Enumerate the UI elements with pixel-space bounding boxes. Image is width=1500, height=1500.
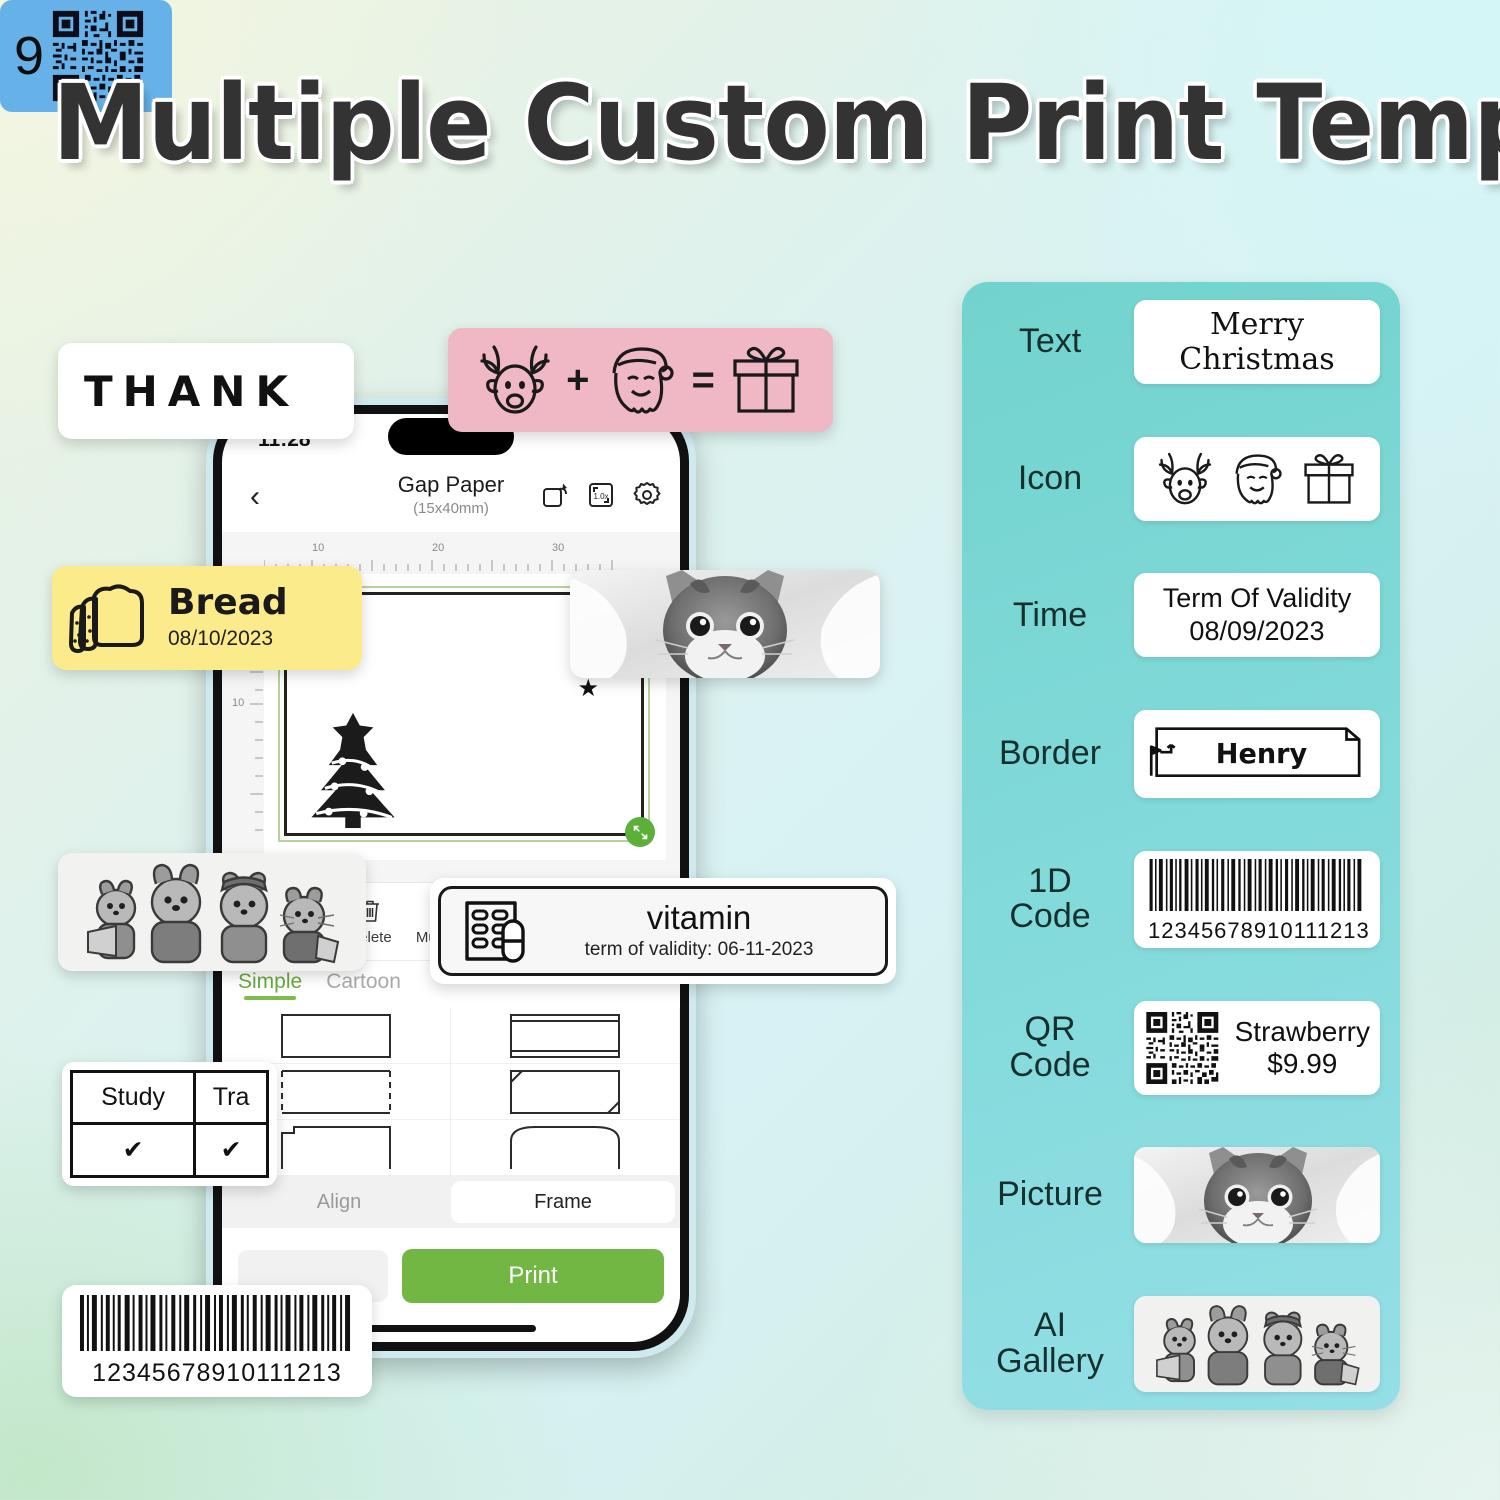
cat-photo xyxy=(570,570,880,678)
text-value: Merry Christmas xyxy=(1144,307,1370,377)
label-code: Code xyxy=(976,1048,1124,1084)
qr-code-icon xyxy=(1144,1007,1221,1089)
card-time[interactable]: Term Of Validity 08/09/2023 xyxy=(1134,573,1380,657)
barcode-icon xyxy=(78,1295,356,1351)
rotate-paper-icon[interactable] xyxy=(540,480,570,510)
card-ai-gallery[interactable] xyxy=(1134,1296,1380,1392)
tab-cartoon[interactable]: Cartoon xyxy=(326,970,401,1000)
santa-icon xyxy=(600,339,682,421)
sticker-study-table: Study Tra ✔ ✔ xyxy=(62,1062,277,1186)
app-header-actions: 1.0x xyxy=(540,480,662,510)
row-label-icon: Icon xyxy=(976,461,1124,497)
zoom-1x-icon[interactable]: 1.0x xyxy=(586,480,616,510)
card-qr-code[interactable]: Strawberry $9.99 xyxy=(1134,1001,1380,1095)
vitamin-inner-border: vitamin term of validity: 06-11-2023 xyxy=(438,886,888,976)
vitamin-text-block: vitamin term of validity: 06-11-2023 xyxy=(531,901,867,961)
tab-align[interactable]: Align xyxy=(227,1181,451,1223)
table-cell-check: ✔ xyxy=(72,1123,195,1176)
frame-dashed-sides-icon xyxy=(280,1069,392,1115)
table-row: ✔ ✔ xyxy=(72,1123,268,1176)
settings-gear-icon[interactable] xyxy=(632,480,662,510)
svg-text:10: 10 xyxy=(232,697,244,709)
row-label-border: Border xyxy=(976,736,1124,772)
thank-text: THANK xyxy=(58,367,298,416)
gift-icon xyxy=(1298,448,1360,510)
row-label-1d-code: 1D Code xyxy=(976,864,1124,935)
print-button[interactable]: Print xyxy=(402,1249,664,1303)
christmas-tree-icon xyxy=(299,709,407,829)
label-ai: AI xyxy=(976,1308,1124,1344)
app-header: ‹ Gap Paper (15x40mm) 1.0x xyxy=(222,466,680,532)
time-line2: 08/09/2023 xyxy=(1163,615,1352,648)
border-frame-icon: Henry xyxy=(1144,716,1370,792)
row-label-time: Time xyxy=(976,598,1124,634)
svg-text:30: 30 xyxy=(552,542,564,554)
frame-template-grid xyxy=(222,1008,680,1176)
frame-solid-icon xyxy=(280,1013,392,1059)
ai-animals-illustration xyxy=(1144,1299,1370,1389)
row-icon: Icon xyxy=(976,437,1380,521)
santa-icon xyxy=(1226,448,1288,510)
plus-sign: + xyxy=(566,358,589,403)
vitamin-title: vitamin xyxy=(531,901,867,936)
template-types-panel: Text Merry Christmas Icon xyxy=(962,282,1400,1410)
resize-handle[interactable] xyxy=(625,817,655,847)
table-cell-check: ✔ xyxy=(195,1123,268,1176)
svg-text:10: 10 xyxy=(312,542,324,554)
label-code: Code xyxy=(976,899,1124,935)
page-title: Multiple Custom Print Templates xyxy=(53,62,1448,184)
bread-title: Bread xyxy=(168,585,288,621)
sticker-barcode-label: 12345678910111213 xyxy=(62,1285,372,1397)
table-header-cell: Study xyxy=(72,1072,195,1124)
qr-line2: $9.99 xyxy=(1235,1048,1370,1080)
row-label-picture: Picture xyxy=(976,1177,1124,1213)
barcode-number: 12345678910111213 xyxy=(1148,918,1366,944)
sticker-xmas-equation: + = xyxy=(448,328,833,432)
time-text-block: Term Of Validity 08/09/2023 xyxy=(1163,582,1352,648)
reindeer-icon xyxy=(474,339,556,421)
label-1d: 1D xyxy=(976,864,1124,900)
row-ai-gallery: AI Gallery xyxy=(976,1296,1380,1392)
sticker-thank-label: THANK xyxy=(58,343,354,439)
sticker-bread-label: Bread 08/10/2023 xyxy=(52,566,362,670)
tab-frame[interactable]: Frame xyxy=(451,1181,675,1223)
card-picture[interactable] xyxy=(1134,1147,1380,1243)
cat-photo xyxy=(1134,1147,1380,1243)
qr-blue-number: 9 xyxy=(14,25,44,87)
equals-sign: = xyxy=(692,358,715,403)
resize-arrows-icon xyxy=(632,824,649,841)
icon-set xyxy=(1144,448,1370,510)
frame-template-item[interactable] xyxy=(451,1064,680,1120)
pill-blister-icon xyxy=(459,895,531,967)
svg-text:Henry: Henry xyxy=(1216,739,1308,770)
row-picture: Picture xyxy=(976,1147,1380,1243)
row-1d-code: 1D Code xyxy=(976,851,1380,948)
bread-text-block: Bread 08/10/2023 xyxy=(168,585,288,651)
home-indicator xyxy=(366,1325,536,1332)
star-small-icon: ★ xyxy=(577,677,599,701)
frame-tab-top-icon xyxy=(280,1125,392,1171)
frame-double-top-bottom-icon xyxy=(509,1013,621,1059)
frame-template-item[interactable] xyxy=(222,1008,451,1064)
reindeer-icon xyxy=(1154,448,1216,510)
row-text: Text Merry Christmas xyxy=(976,300,1380,384)
card-1d-code[interactable]: 12345678910111213 xyxy=(1134,851,1380,948)
tab-simple[interactable]: Simple xyxy=(238,970,302,1000)
label-qr: QR xyxy=(976,1012,1124,1048)
row-label-qr-code: QR Code xyxy=(976,1012,1124,1083)
barcode-icon xyxy=(1148,859,1366,911)
frame-cut-corner-icon xyxy=(509,1069,621,1115)
card-icon[interactable] xyxy=(1134,437,1380,521)
vitamin-subtitle: term of validity: 06-11-2023 xyxy=(531,939,867,961)
sticker-cat-photo xyxy=(570,570,880,678)
bread-loaf-icon xyxy=(66,579,158,657)
time-line1: Term Of Validity xyxy=(1163,582,1352,615)
gift-icon xyxy=(725,339,807,421)
svg-text:20: 20 xyxy=(432,542,444,554)
card-text[interactable]: Merry Christmas xyxy=(1134,300,1380,384)
frame-rounded-top-icon xyxy=(509,1125,621,1171)
qr-line1: Strawberry xyxy=(1235,1016,1370,1048)
bread-date: 08/10/2023 xyxy=(168,627,288,651)
ai-animals-illustration xyxy=(72,860,352,964)
qr-text-block: Strawberry $9.99 xyxy=(1235,1016,1370,1080)
table-row: Study Tra xyxy=(72,1072,268,1124)
bottom-segmented-tabs: Align Frame xyxy=(222,1176,680,1228)
frame-template-item[interactable] xyxy=(451,1120,680,1176)
study-table: Study Tra ✔ ✔ xyxy=(70,1070,269,1178)
label-gallery: Gallery xyxy=(976,1344,1124,1380)
row-qr-code: QR Code xyxy=(976,1001,1380,1095)
frame-template-item[interactable] xyxy=(451,1008,680,1064)
row-time: Time Term Of Validity 08/09/2023 xyxy=(976,573,1380,657)
sticker-ai-animals xyxy=(58,853,366,971)
svg-text:1.0x: 1.0x xyxy=(593,492,608,501)
table-header-cell: Tra xyxy=(195,1072,268,1124)
barcode-number: 12345678910111213 xyxy=(78,1359,356,1388)
row-label-text: Text xyxy=(976,324,1124,360)
sticker-vitamin-label: vitamin term of validity: 06-11-2023 xyxy=(430,878,896,984)
card-border[interactable]: Henry xyxy=(1134,710,1380,798)
row-border: Border Henry xyxy=(976,710,1380,798)
row-label-ai-gallery: AI Gallery xyxy=(976,1308,1124,1379)
